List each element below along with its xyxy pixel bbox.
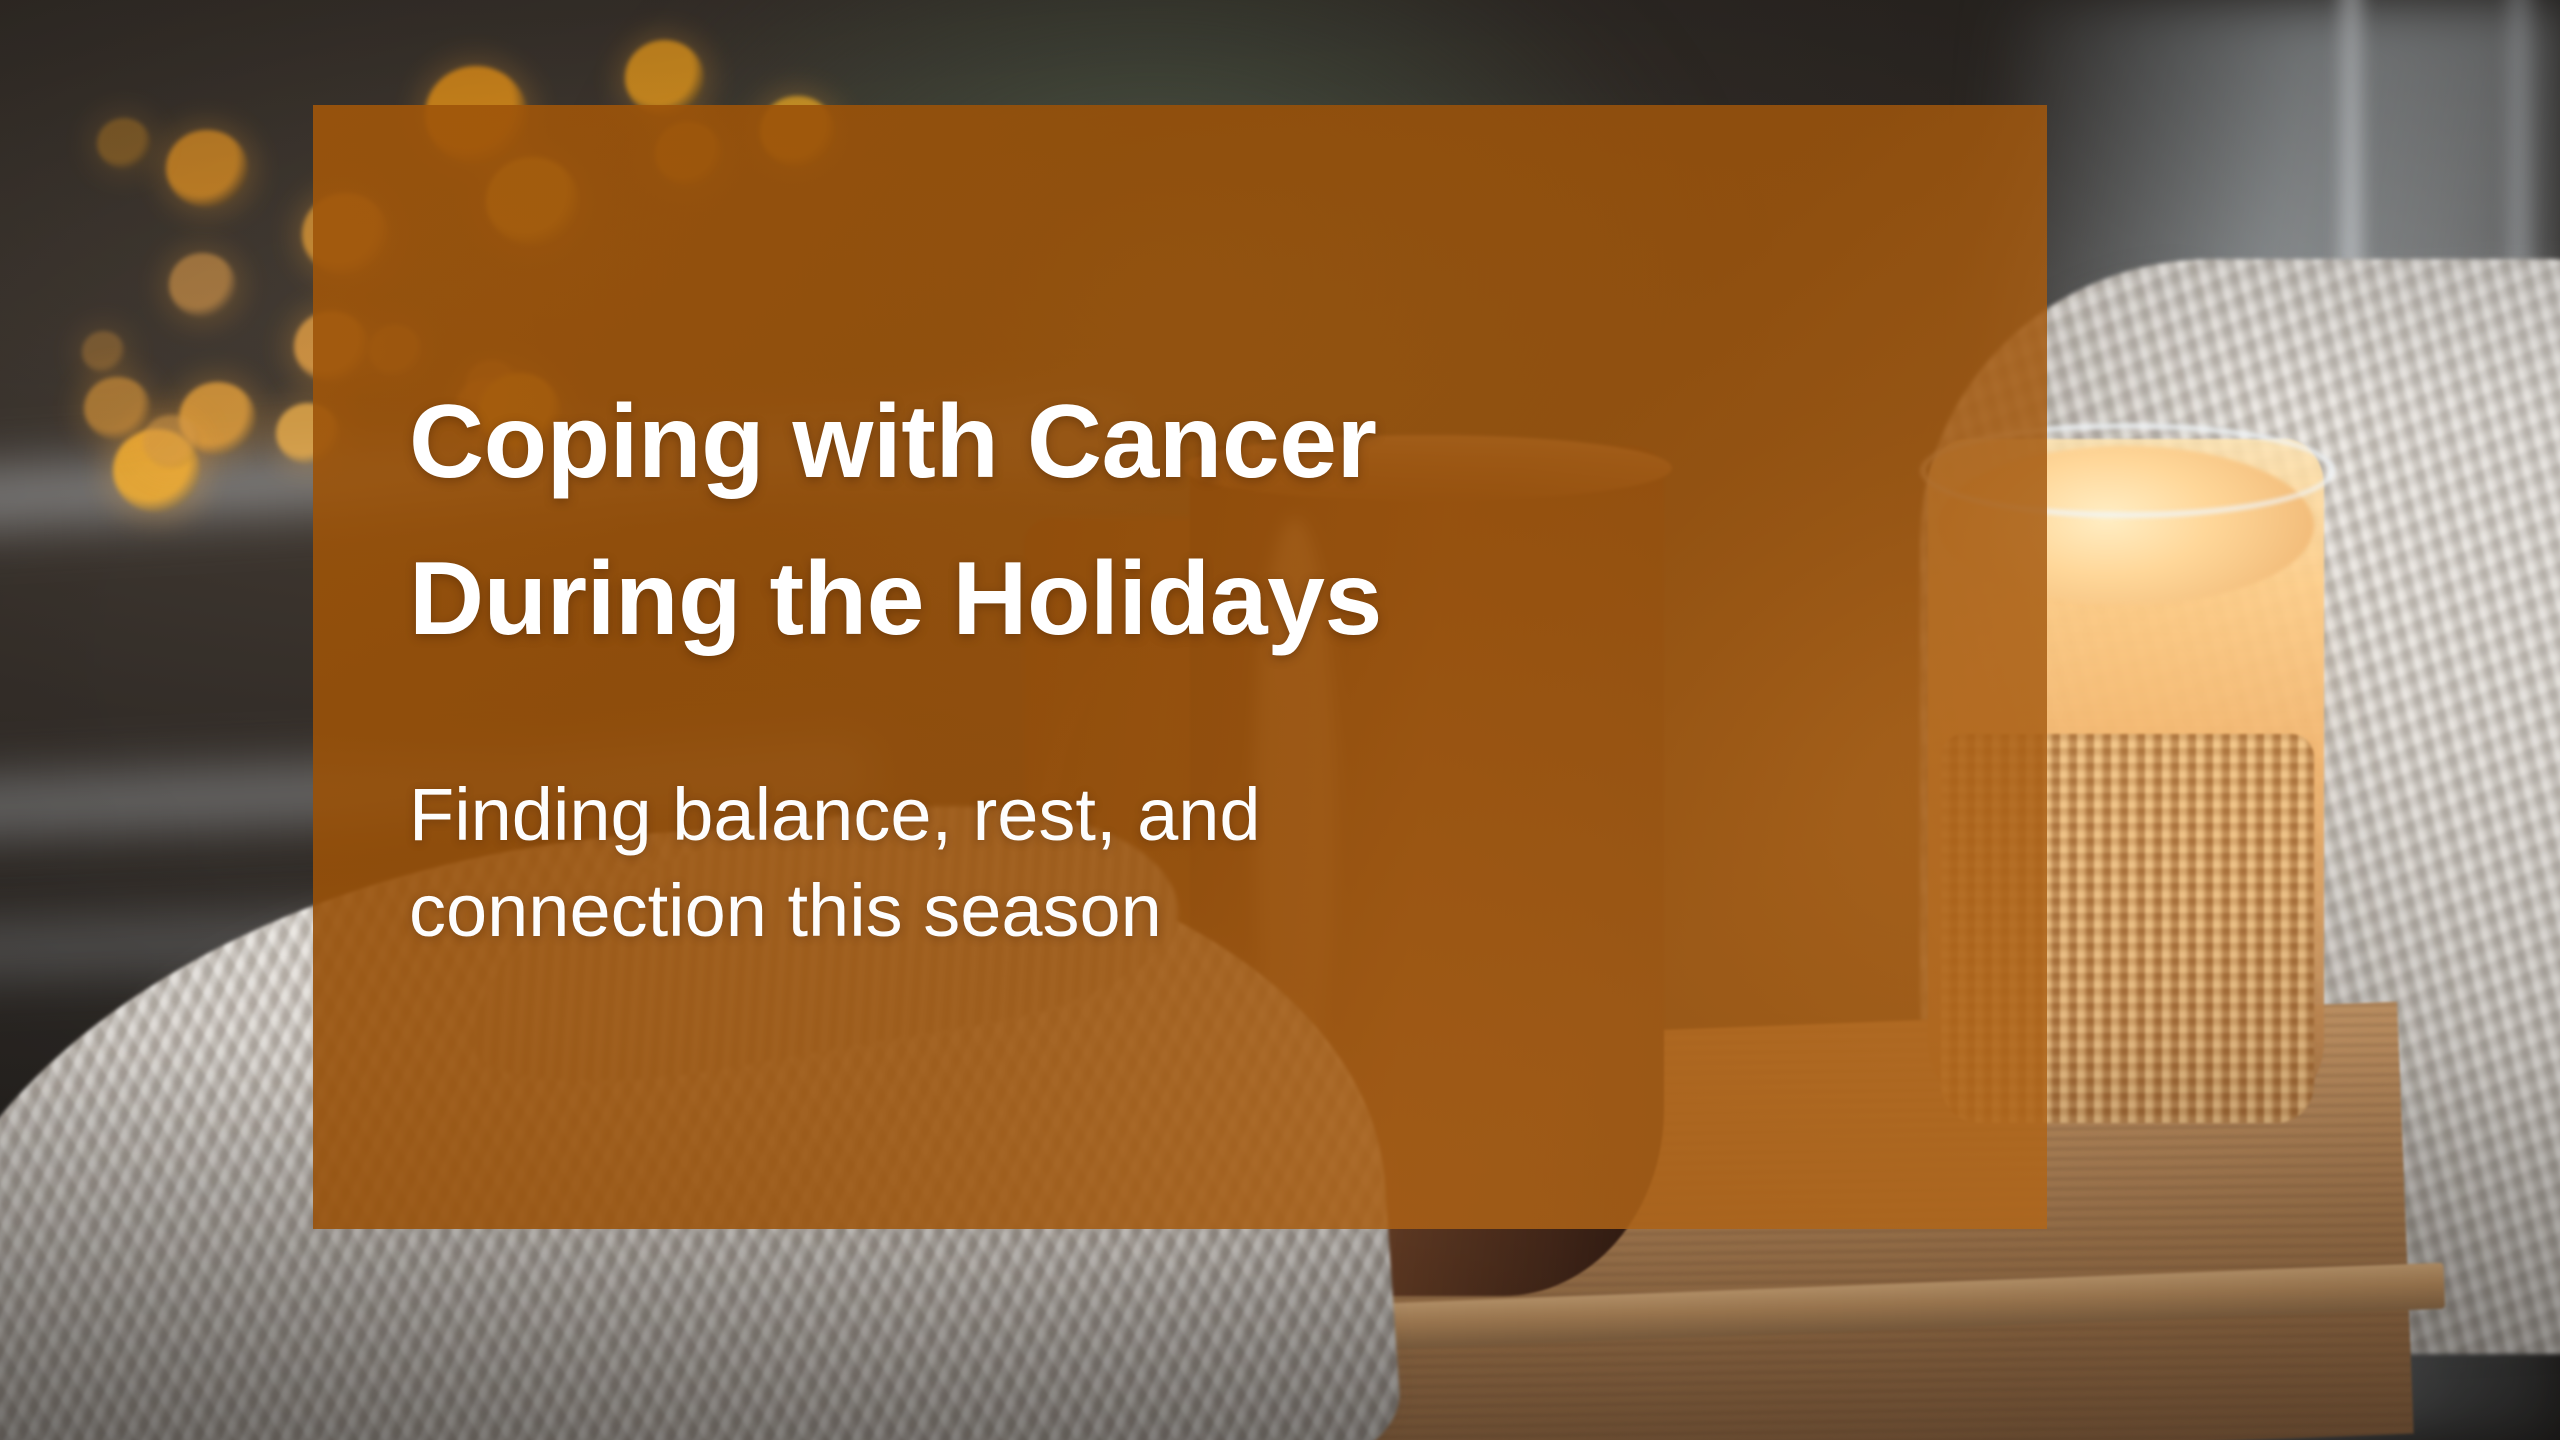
headline-line-1: Coping with Cancer — [409, 375, 1951, 510]
headline-overlay-card: Coping with Cancer During the Holidays F… — [313, 105, 2047, 1229]
banner-stage: Coping with Cancer During the Holidays F… — [0, 0, 2560, 1440]
page-subtitle: Finding balance, rest, and connection th… — [409, 767, 1489, 959]
page-title: Coping with Cancer During the Holidays — [409, 375, 1951, 667]
headline-line-2: During the Holidays — [409, 532, 1951, 667]
